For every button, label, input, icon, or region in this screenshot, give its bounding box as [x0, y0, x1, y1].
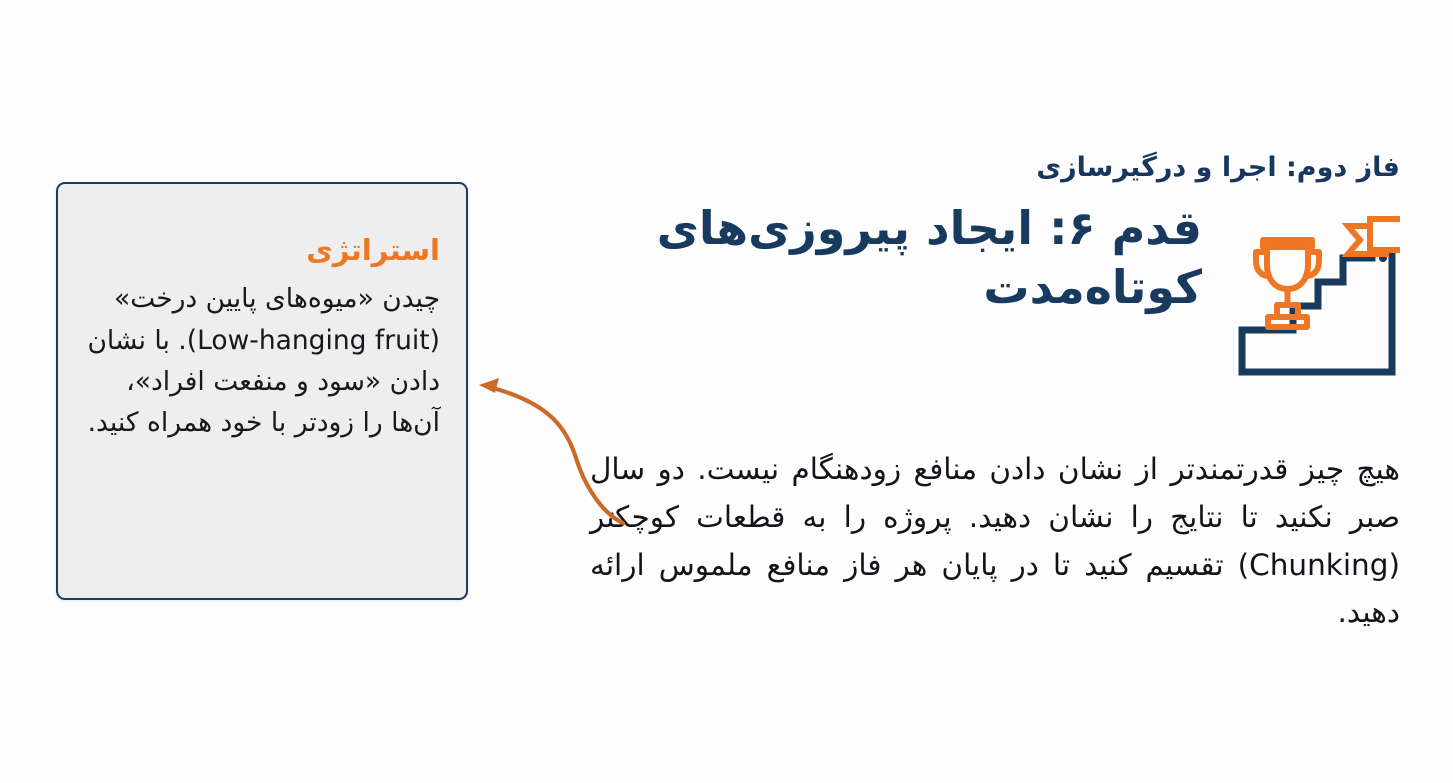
- strategy-card-body: چیدن «میوه‌های پایین درخت» (Low-hanging …: [84, 278, 440, 443]
- strategy-card: استراتژی چیدن «میوه‌های پایین درخت» (Low…: [56, 182, 468, 600]
- slide-canvas: فاز دوم: اجرا و درگیرسازی: [0, 0, 1453, 783]
- title-row: قدم ۶: ایجاد پیروزی‌های کوتاه‌مدت: [580, 199, 1400, 385]
- body-paragraph: هیچ چیز قدرتمندتر از نشان دادن منافع زود…: [590, 446, 1400, 637]
- content-column: فاز دوم: اجرا و درگیرسازی: [580, 150, 1400, 385]
- page-title: قدم ۶: ایجاد پیروزی‌های کوتاه‌مدت: [592, 199, 1202, 317]
- phase-kicker: فاز دوم: اجرا و درگیرسازی: [580, 150, 1400, 185]
- strategy-card-heading: استراتژی: [84, 232, 440, 268]
- trophy-stairs-flag-icon: [1236, 213, 1400, 385]
